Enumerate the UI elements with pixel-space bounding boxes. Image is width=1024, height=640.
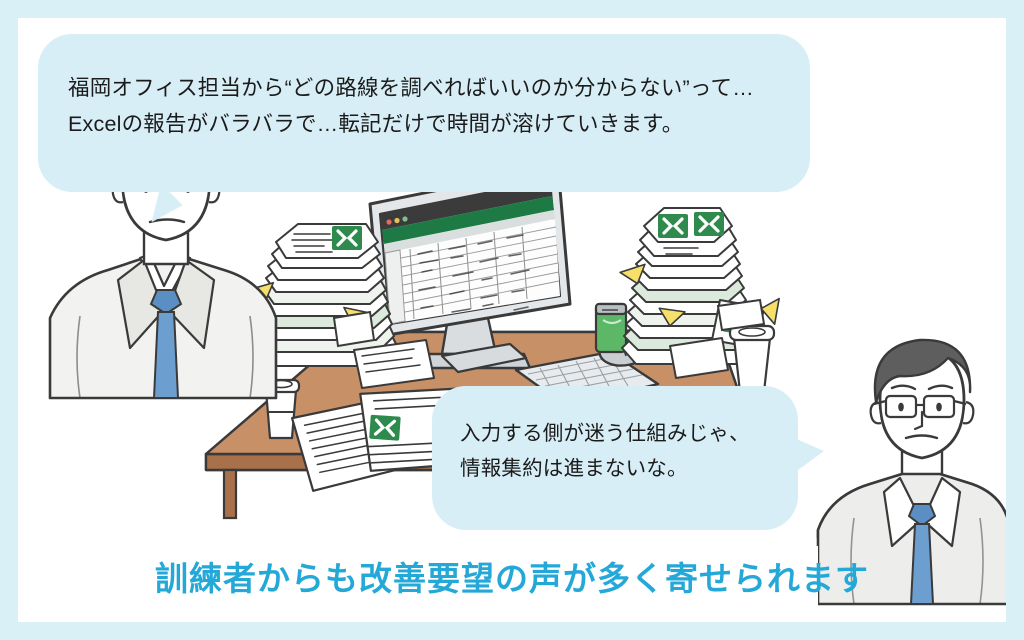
speech-bubble-right: 入力する側が迷う仕組みじゃ、 情報集約は進まないな。 [432,386,798,530]
excel-logo-icon [658,214,688,238]
scattered-paper-5 [670,338,728,378]
speech-bubble-left: 福岡オフィス担当から“どの路線を調べればいいのか分からない”って… Excelの… [38,34,810,192]
coffee-cup-right [730,326,774,392]
speech-bubble-right-text: 入力する側が迷う仕組みじゃ、 情報集約は進まないな。 [460,416,750,486]
speech-bubble-left-text: 福岡オフィス担当から“どの路線を調べればいいのか分からない”って… Excelの… [68,70,754,142]
slide-root: 福岡オフィス担当から“どの路線を調べればいいのか分からない”って… Excelの… [0,0,1024,640]
speech-bubble-right-tail [794,438,824,473]
bottom-caption: 訓練者からも改善要望の声が多く寄せられます [0,552,1024,600]
excel-logo-icon [332,226,362,250]
excel-logo-icon [694,212,724,236]
